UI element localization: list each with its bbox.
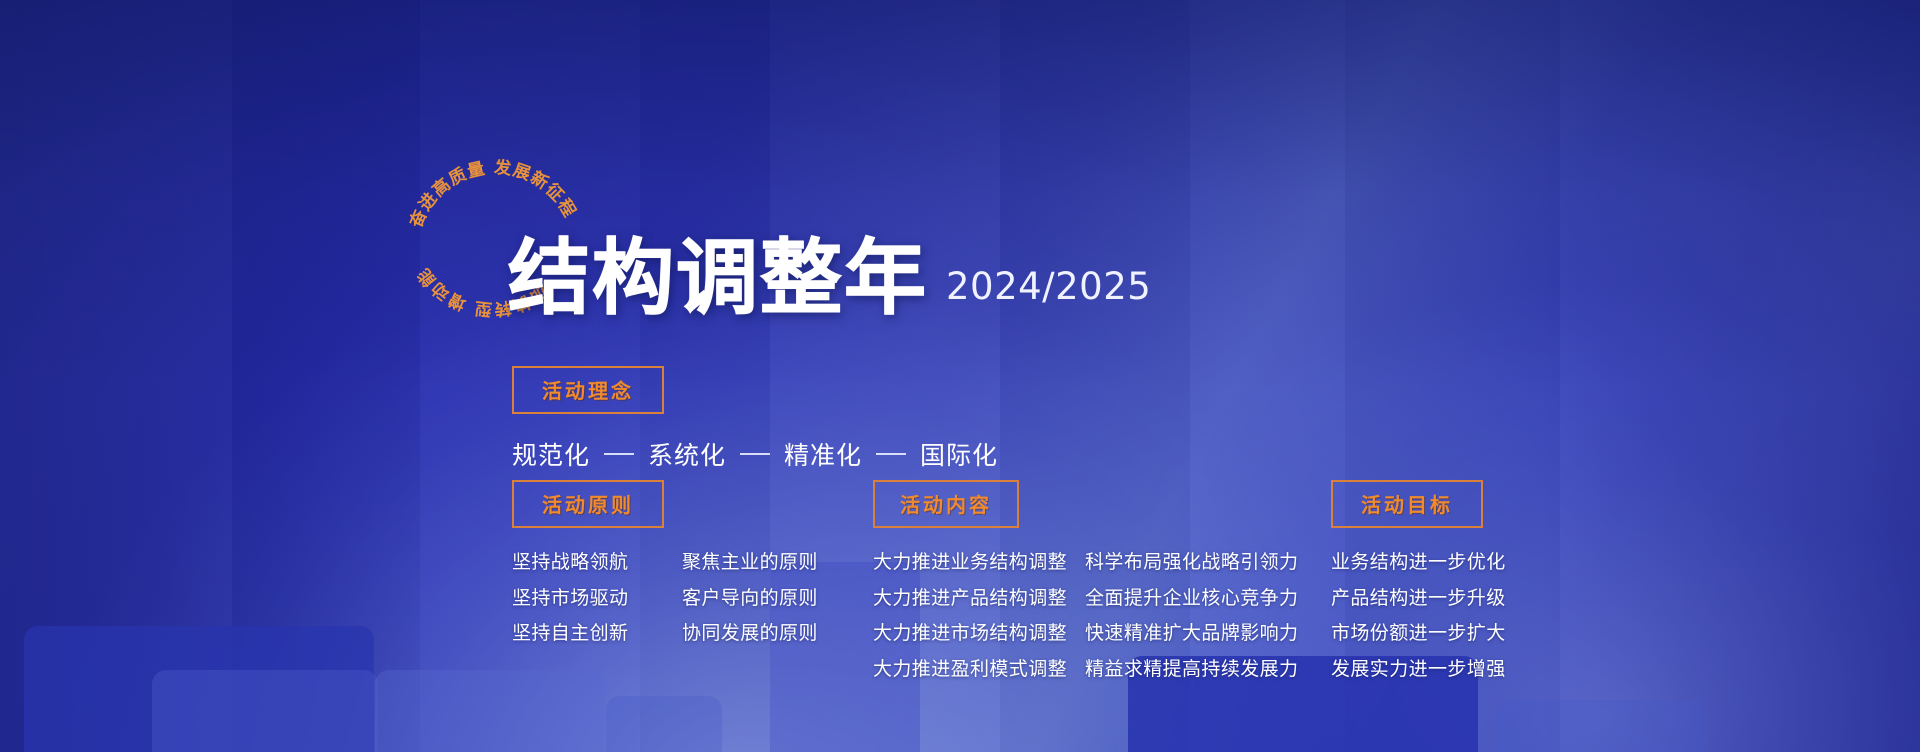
- concept-word-list: 规范化系统化精准化国际化: [512, 436, 998, 472]
- list-item-cell: 业务结构进一步优化: [1331, 550, 1506, 576]
- list-item-cell: 大力推进市场结构调整: [873, 621, 1067, 647]
- contents-section: 活动内容 大力推进业务结构调整科学布局强化战略引领力大力推进产品结构调整全面提升…: [873, 480, 1298, 683]
- page-title: 结构调整年: [508, 240, 928, 318]
- list-item: 坚持自主创新协同发展的原则: [512, 621, 818, 647]
- list-item-cell: 产品结构进一步升级: [1331, 586, 1506, 612]
- list-item-cell: 坚持自主创新: [512, 621, 664, 647]
- list-item-cell: 市场份额进一步扩大: [1331, 621, 1506, 647]
- list-item: 产品结构进一步升级: [1331, 586, 1506, 612]
- circular-slogan-top-path: 奋进高质量 发展新征程: [405, 157, 580, 232]
- goals-section: 活动目标 业务结构进一步优化产品结构进一步升级市场份额进一步扩大发展实力进一步增…: [1331, 480, 1506, 683]
- concept-tag: 活动理念: [512, 366, 664, 414]
- list-item: 坚持战略领航聚焦主业的原则: [512, 550, 818, 576]
- principles-tag: 活动原则: [512, 480, 664, 528]
- goals-tag-label: 活动目标: [1361, 489, 1453, 518]
- list-item: 大力推进市场结构调整快速精准扩大品牌影响力: [873, 621, 1298, 647]
- goals-rows: 业务结构进一步优化产品结构进一步升级市场份额进一步扩大发展实力进一步增强: [1331, 550, 1506, 683]
- campaign-banner: 奋进高质量 发展新征程 加快转型 增动能 结构调整年 2024/2025 活动理…: [0, 0, 1920, 752]
- skyline-block: [1498, 700, 1708, 752]
- concept-tag-label: 活动理念: [542, 375, 634, 404]
- concept-separator: [876, 453, 906, 455]
- list-item: 大力推进产品结构调整全面提升企业核心竞争力: [873, 586, 1298, 612]
- list-item: 大力推进盈利模式调整精益求精提高持续发展力: [873, 657, 1298, 683]
- list-item-cell: 客户导向的原则: [682, 586, 818, 612]
- headline-group: 结构调整年 2024/2025: [508, 240, 1151, 318]
- list-item-cell: 全面提升企业核心竞争力: [1085, 586, 1298, 612]
- list-item: 坚持市场驱动客户导向的原则: [512, 586, 818, 612]
- list-item-cell: 大力推进业务结构调整: [873, 550, 1067, 576]
- principles-rows: 坚持战略领航聚焦主业的原则坚持市场驱动客户导向的原则坚持自主创新协同发展的原则: [512, 550, 818, 647]
- list-item-cell: 发展实力进一步增强: [1331, 657, 1506, 683]
- contents-tag-label: 活动内容: [900, 489, 992, 518]
- list-item-cell: 大力推进盈利模式调整: [873, 657, 1067, 683]
- concept-word: 精准化: [784, 436, 862, 472]
- concept-word: 规范化: [512, 436, 590, 472]
- list-item-cell: 坚持市场驱动: [512, 586, 664, 612]
- contents-rows: 大力推进业务结构调整科学布局强化战略引领力大力推进产品结构调整全面提升企业核心竞…: [873, 550, 1298, 683]
- list-item-cell: 快速精准扩大品牌影响力: [1085, 621, 1298, 647]
- skyline-block: [375, 670, 605, 752]
- list-item: 发展实力进一步增强: [1331, 657, 1506, 683]
- list-item-cell: 大力推进产品结构调整: [873, 586, 1067, 612]
- principles-section: 活动原则 坚持战略领航聚焦主业的原则坚持市场驱动客户导向的原则坚持自主创新协同发…: [512, 480, 818, 647]
- list-item-cell: 坚持战略领航: [512, 550, 664, 576]
- list-item-cell: 科学布局强化战略引领力: [1085, 550, 1298, 576]
- concept-word: 系统化: [648, 436, 726, 472]
- principles-tag-label: 活动原则: [542, 489, 634, 518]
- list-item-cell: 精益求精提高持续发展力: [1085, 657, 1298, 683]
- list-item: 市场份额进一步扩大: [1331, 621, 1506, 647]
- list-item-cell: 聚焦主业的原则: [682, 550, 818, 576]
- list-item-cell: 协同发展的原则: [682, 621, 818, 647]
- skyline-block: [606, 696, 722, 752]
- concept-section: 活动理念 规范化系统化精准化国际化: [512, 366, 998, 472]
- campaign-year: 2024/2025: [946, 265, 1151, 318]
- skyline-block: [152, 670, 378, 752]
- concept-separator: [604, 453, 634, 455]
- contents-tag: 活动内容: [873, 480, 1019, 528]
- goals-tag: 活动目标: [1331, 480, 1483, 528]
- circular-slogan-top: 奋进高质量 发展新征程: [405, 157, 580, 232]
- list-item: 大力推进业务结构调整科学布局强化战略引领力: [873, 550, 1298, 576]
- list-item: 业务结构进一步优化: [1331, 550, 1506, 576]
- concept-separator: [740, 453, 770, 455]
- concept-word: 国际化: [920, 436, 998, 472]
